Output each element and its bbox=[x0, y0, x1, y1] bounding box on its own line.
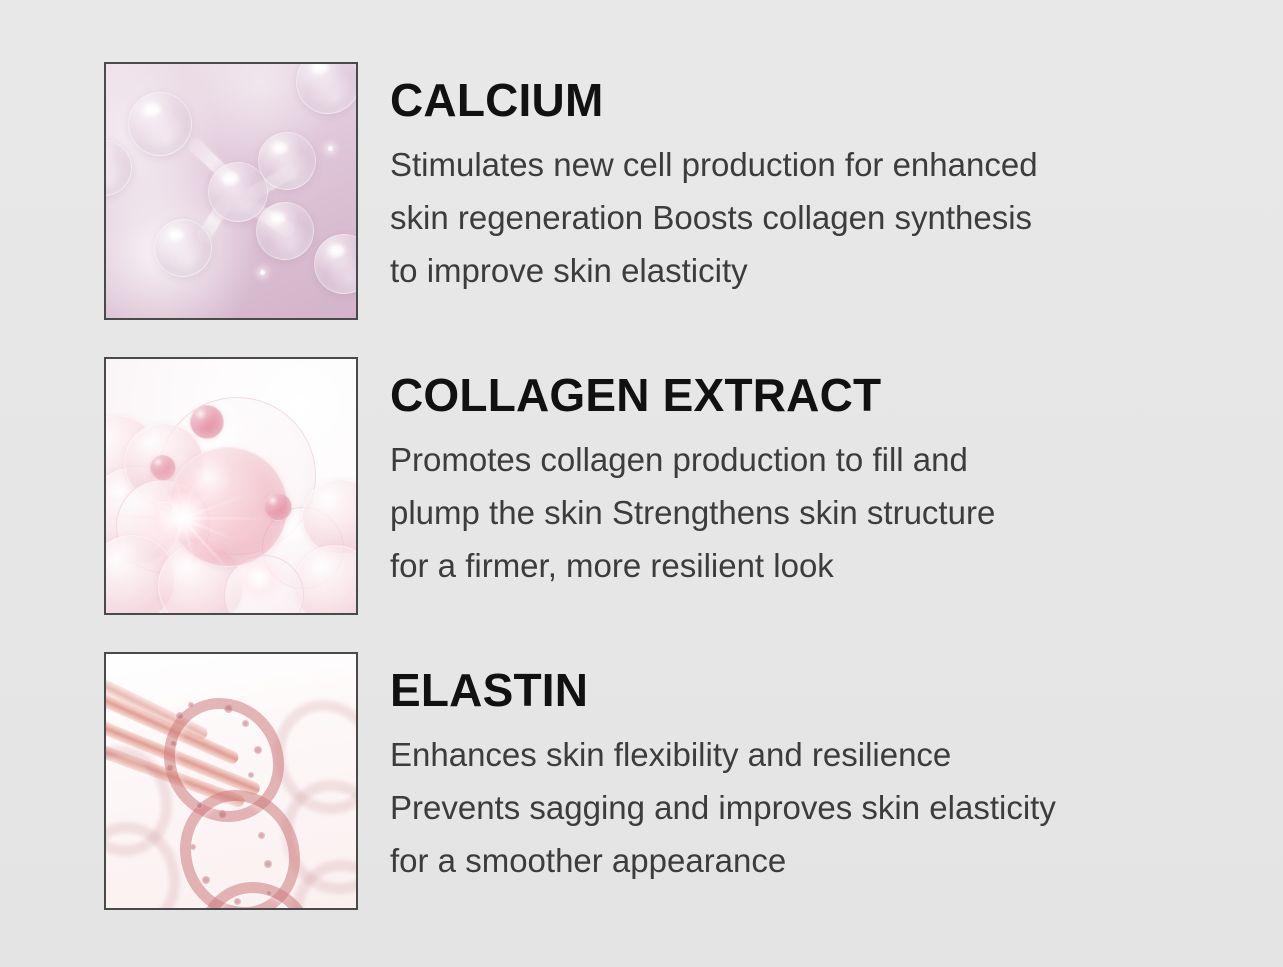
pink-bubbles-flare-image bbox=[104, 357, 358, 615]
dna-helix-image bbox=[104, 652, 358, 910]
molecule-spheres-image bbox=[104, 62, 358, 320]
bubbles-artwork bbox=[106, 359, 356, 613]
description-line: for a firmer, more resilient look bbox=[390, 539, 1190, 592]
ingredient-title-collagen-extract: COLLAGEN EXTRACT bbox=[390, 371, 1193, 419]
description-line: skin regeneration Boosts collagen synthe… bbox=[390, 191, 1190, 244]
description-line: plump the skin Strengthens skin structur… bbox=[390, 486, 1190, 539]
description-line: to improve skin elasticity bbox=[390, 244, 1190, 297]
ingredient-item-collagen-extract: COLLAGEN EXTRACT Promotes collagen produ… bbox=[0, 357, 1283, 615]
description-line: for a smoother appearance bbox=[390, 834, 1190, 887]
molecule-artwork bbox=[106, 64, 356, 318]
description-line: Stimulates new cell production for enhan… bbox=[390, 138, 1190, 191]
ingredient-description-elastin: Enhances skin flexibility and resilience… bbox=[390, 728, 1190, 887]
description-line: Promotes collagen production to fill and bbox=[390, 433, 1190, 486]
elastin-text-block: ELASTIN Enhances skin flexibility and re… bbox=[390, 652, 1283, 887]
ingredient-benefits-page: CALCIUM Stimulates new cell production f… bbox=[0, 0, 1283, 967]
ingredient-description-calcium: Stimulates new cell production for enhan… bbox=[390, 138, 1190, 297]
calcium-text-block: CALCIUM Stimulates new cell production f… bbox=[390, 62, 1283, 297]
ingredient-item-elastin: ELASTIN Enhances skin flexibility and re… bbox=[0, 652, 1283, 910]
ingredient-title-calcium: CALCIUM bbox=[390, 76, 1193, 124]
description-line: Prevents sagging and improves skin elast… bbox=[390, 781, 1190, 834]
ingredient-title-elastin: ELASTIN bbox=[390, 666, 1193, 714]
ingredient-item-calcium: CALCIUM Stimulates new cell production f… bbox=[0, 62, 1283, 320]
collagen-extract-text-block: COLLAGEN EXTRACT Promotes collagen produ… bbox=[390, 357, 1283, 592]
ingredient-description-collagen-extract: Promotes collagen production to fill and… bbox=[390, 433, 1190, 592]
dna-artwork bbox=[106, 654, 356, 908]
description-line: Enhances skin flexibility and resilience bbox=[390, 728, 1190, 781]
